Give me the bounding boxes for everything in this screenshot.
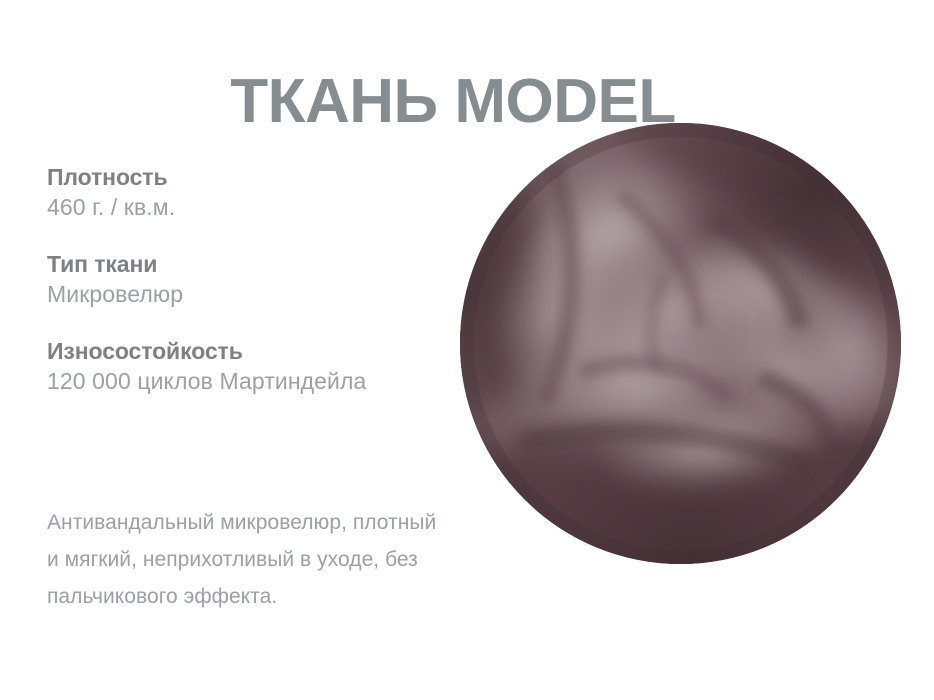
spec-item-density: Плотность 460 г. / кв.м. bbox=[47, 162, 447, 223]
spec-list: Плотность 460 г. / кв.м. Тип ткани Микро… bbox=[47, 162, 447, 397]
page-title: ТКАНЬ MODEL bbox=[0, 66, 906, 138]
fabric-texture-illustration bbox=[460, 123, 901, 564]
fabric-swatch-circle-image bbox=[460, 123, 901, 564]
spec-item-fabric-type: Тип ткани Микровелюр bbox=[47, 249, 447, 310]
spec-label-density: Плотность bbox=[47, 162, 447, 192]
spec-item-durability: Износостойкость 120 000 циклов Мартиндей… bbox=[47, 336, 447, 397]
description-text: Антивандальный микровелюр, плотный и мяг… bbox=[47, 504, 447, 615]
spec-value-density: 460 г. / кв.м. bbox=[47, 192, 447, 223]
spec-label-durability: Износостойкость bbox=[47, 336, 447, 366]
spec-value-durability: 120 000 циклов Мартиндейла bbox=[47, 366, 447, 397]
fabric-info-card: ТКАНЬ MODEL Плотность 460 г. / кв.м. Тип… bbox=[0, 0, 934, 700]
spec-label-fabric-type: Тип ткани bbox=[47, 249, 447, 279]
spec-value-fabric-type: Микровелюр bbox=[47, 279, 447, 310]
